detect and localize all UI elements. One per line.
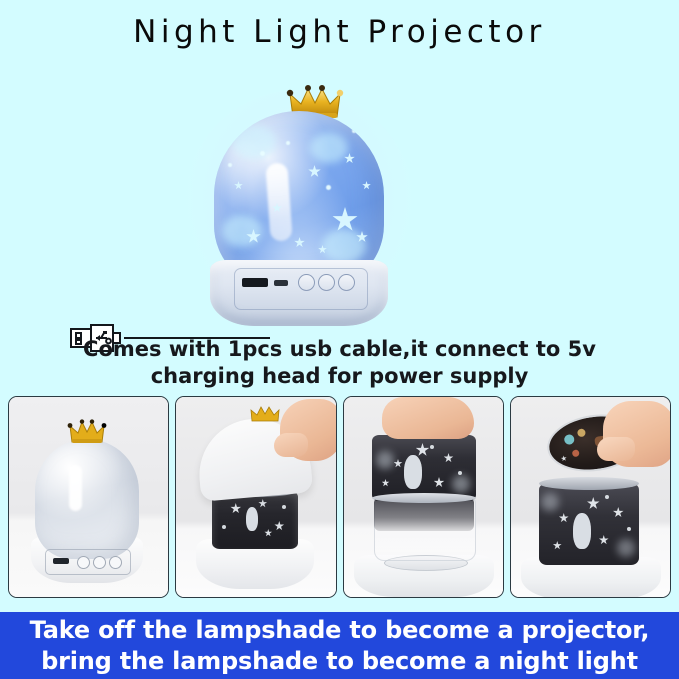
page-title: Night Light Projector [0, 14, 679, 50]
finger [597, 437, 635, 461]
gold-crown-icon [248, 405, 282, 423]
cable-caption: Comes with 1pcs usb cable,it connect to … [0, 336, 679, 390]
product-image-page: Night Light Projector [0, 0, 679, 679]
thumb-white-lamp[interactable] [8, 396, 169, 598]
usb-port[interactable] [242, 278, 268, 287]
power-button[interactable] [298, 274, 315, 291]
cable-caption-line2: charging head for power supply [0, 363, 679, 390]
tf-card-slot[interactable] [274, 280, 288, 286]
thumb-projection-disc[interactable] [510, 396, 671, 598]
thumb-lift-lampshade[interactable] [175, 396, 336, 598]
bottom-banner: Take off the lampshade to become a proje… [0, 612, 679, 679]
thumb-lift-film-cylinder[interactable] [343, 396, 504, 598]
banner-line2: bring the lampshade to become a night li… [41, 646, 638, 677]
finger [274, 433, 308, 457]
rotation-button[interactable] [338, 274, 355, 291]
night-light-projector-product [208, 84, 390, 326]
projector-base [210, 260, 388, 326]
hero-product-section [0, 60, 679, 325]
gold-crown-icon [67, 419, 107, 445]
mode-button[interactable] [318, 274, 335, 291]
banner-line1: Take off the lampshade to become a proje… [30, 615, 650, 646]
cable-caption-line1: Comes with 1pcs usb cable,it connect to … [0, 336, 679, 363]
thumbnail-strip [8, 396, 671, 598]
hand [382, 397, 474, 439]
